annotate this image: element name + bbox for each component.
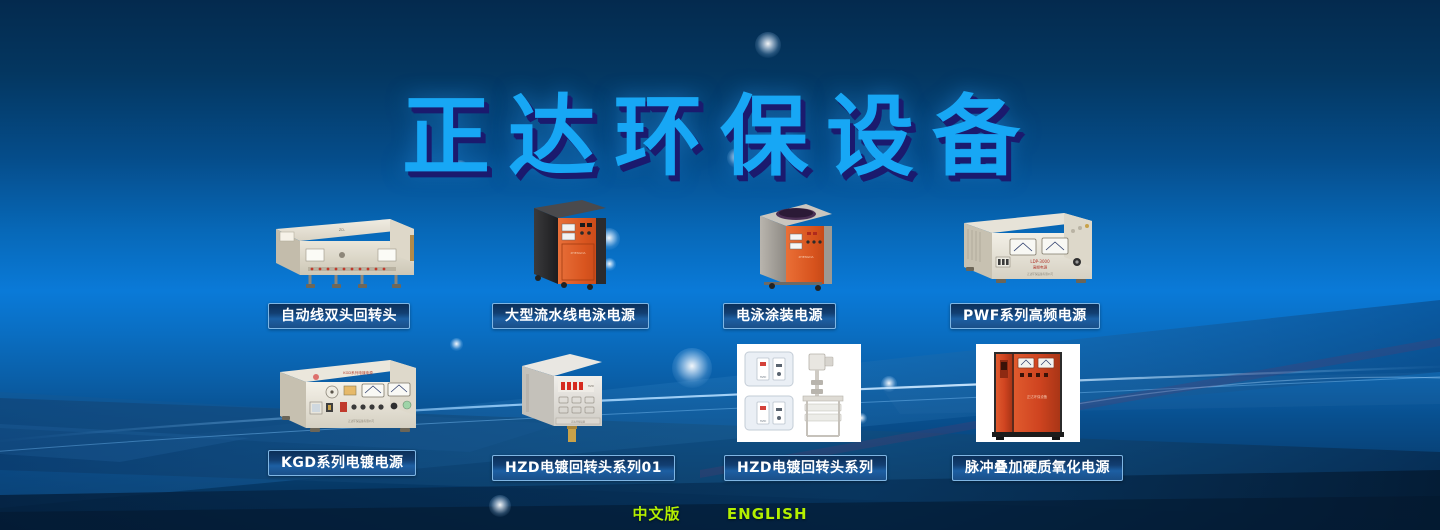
- bokeh-glow-1: [755, 32, 781, 58]
- hzd-electroplating-rotator-series-photo[interactable]: HZD HZD: [737, 344, 861, 442]
- large-assembly-line-electrophoresis-power-supply-photo[interactable]: ZHENGDA: [520, 192, 612, 292]
- product-label-6[interactable]: HZD电镀回转头系列: [724, 455, 887, 481]
- electrophoretic-coating-power-supply-photo[interactable]: ZHENGDA: [748, 192, 840, 292]
- product-label-2[interactable]: 电泳涂装电源: [723, 303, 836, 329]
- bokeh-glow-6: [450, 338, 463, 351]
- hzd-electroplating-rotator-series-01-photo[interactable]: HZD 正达环保设备: [512, 344, 618, 444]
- svg-text:HZD: HZD: [760, 375, 767, 379]
- language-switcher: 中文版 ENGLISH: [0, 503, 1440, 524]
- svg-text:KGD系列电镀电源: KGD系列电镀电源: [343, 370, 373, 375]
- svg-text:ZHENGDA: ZHENGDA: [798, 255, 814, 259]
- product-item-7[interactable]: 正达环保设备 脉冲叠加硬质氧化电源: [976, 344, 1156, 494]
- svg-text:正达环保设备有限公司: 正达环保设备有限公司: [1027, 272, 1053, 276]
- svg-text:正达环保设备: 正达环保设备: [1027, 394, 1048, 399]
- automatic-line-double-head-rotator-photo[interactable]: ZD-: [262, 205, 422, 289]
- svg-text:正达环保设备: 正达环保设备: [571, 420, 586, 424]
- product-label-3[interactable]: PWF系列高频电源: [950, 303, 1100, 329]
- svg-text:ZD-: ZD-: [339, 228, 346, 232]
- product-item-4[interactable]: KGD系列电镀电源 正达环保设备有限公司: [266, 352, 446, 497]
- product-label-5[interactable]: HZD电镀回转头系列01: [492, 455, 675, 481]
- pwf-series-high-frequency-power-supply-photo[interactable]: LDP-3000 高频电源 正达环保设备有限公司: [952, 205, 1098, 291]
- product-item-5[interactable]: HZD 正达环保设备 HZD电镀回转头系列01: [512, 344, 692, 494]
- product-label-0[interactable]: 自动线双头回转头: [268, 303, 410, 329]
- pulse-superimposed-hard-anodizing-power-supply-photo[interactable]: 正达环保设备: [976, 344, 1080, 442]
- language-link-english[interactable]: ENGLISH: [727, 505, 808, 523]
- product-label-4[interactable]: KGD系列电镀电源: [268, 450, 416, 476]
- page-title: 正达环保设备: [0, 66, 1440, 193]
- svg-text:正达环保设备有限公司: 正达环保设备有限公司: [348, 419, 374, 423]
- product-item-3[interactable]: LDP-3000 高频电源 正达环保设备有限公司 PWF系列高频电源: [952, 205, 1132, 350]
- svg-text:HZD: HZD: [588, 384, 594, 388]
- product-item-6[interactable]: HZD HZD HZD电镀回转头系列: [737, 344, 917, 494]
- language-link-chinese[interactable]: 中文版: [632, 503, 680, 524]
- svg-text:ZHENGDA: ZHENGDA: [570, 251, 586, 255]
- product-item-1[interactable]: ZHENGDA 大型流水线电泳电源: [520, 192, 690, 342]
- kgd-series-electroplating-power-supply-photo[interactable]: KGD系列电镀电源 正达环保设备有限公司: [266, 352, 422, 440]
- svg-text:高频电源: 高频电源: [1033, 265, 1048, 270]
- svg-text:HZD: HZD: [760, 419, 767, 423]
- product-label-7[interactable]: 脉冲叠加硬质氧化电源: [952, 455, 1123, 481]
- svg-text:LDP-3000: LDP-3000: [1030, 259, 1050, 264]
- product-label-1[interactable]: 大型流水线电泳电源: [492, 303, 649, 329]
- product-item-2[interactable]: ZHENGDA 电泳涂装电源: [748, 192, 918, 342]
- homepage-banner: 正达环保设备: [0, 0, 1440, 530]
- product-item-0[interactable]: ZD- 自动线双头回转头: [262, 205, 432, 345]
